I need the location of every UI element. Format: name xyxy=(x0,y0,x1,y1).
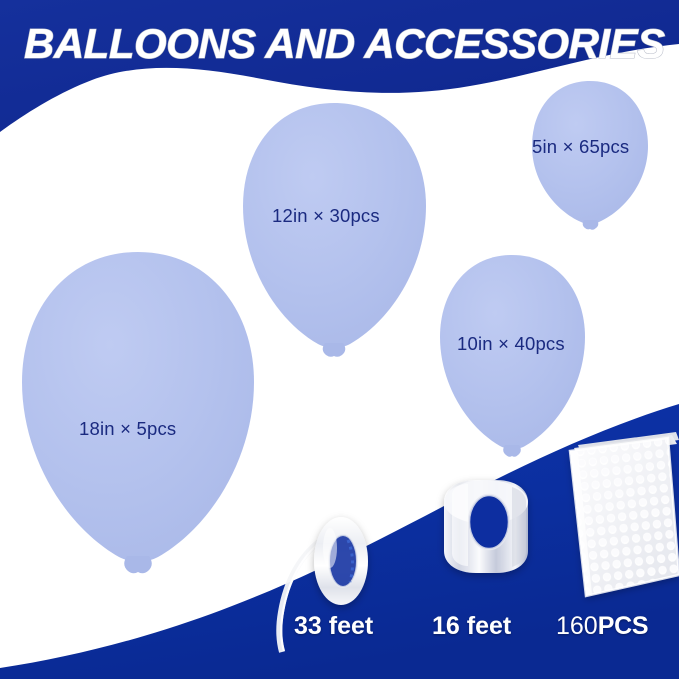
glue-dots-unit: PCS xyxy=(598,612,649,640)
page-title-svg: BALLOONS AND ACCESSORIES xyxy=(22,20,672,72)
product-image: BALLOONS AND ACCESSORIES 18in × 5pcs 12i… xyxy=(0,0,679,679)
product-scene xyxy=(0,0,679,679)
tape-roll-label: 16 feet xyxy=(432,612,511,641)
page-title-text: BALLOONS AND ACCESSORIES xyxy=(24,20,665,67)
page-title: BALLOONS AND ACCESSORIES xyxy=(22,20,672,82)
ribbon-roll-label: 33 feet xyxy=(294,612,373,641)
tape-roll-icon xyxy=(444,480,528,573)
balloon-18in-knot xyxy=(124,556,152,573)
tape-roll-sheen xyxy=(452,484,468,566)
glue-dots-sheet-label: 160PCS xyxy=(556,612,648,641)
ribbon-roll-sheen xyxy=(323,528,337,568)
balloon-12in-knot xyxy=(323,343,346,357)
tape-roll-edge-shade xyxy=(512,487,526,567)
glue-dots-count: 160 xyxy=(556,612,598,640)
